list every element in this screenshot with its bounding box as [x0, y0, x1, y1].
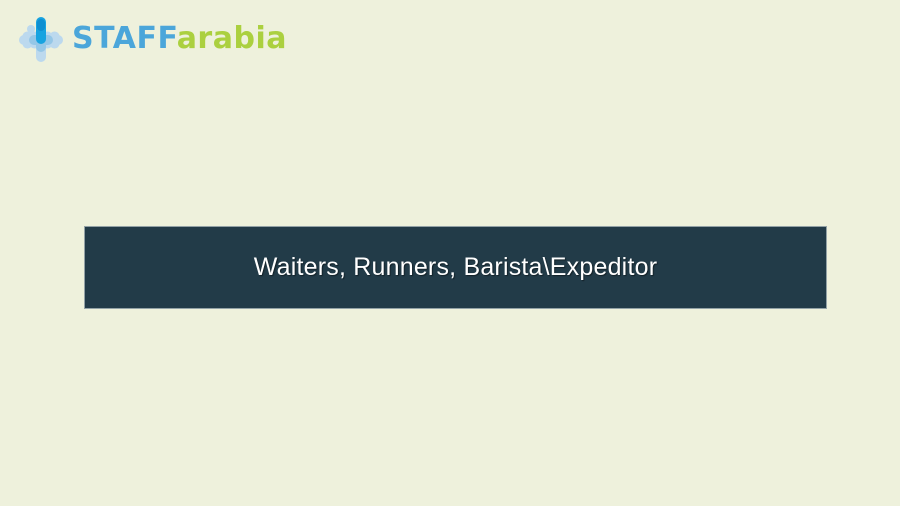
brand-logo[interactable]: STAFFarabia [18, 16, 287, 64]
brand-wordmark-staff: STAFF [72, 21, 177, 56]
snowflake-flower-icon [18, 16, 64, 64]
brand-wordmark: STAFFarabia [72, 24, 287, 56]
slide-canvas: STAFFarabia Waiters, Runners, Barista\Ex… [0, 0, 900, 506]
slide-title: Waiters, Runners, Barista\Expeditor [254, 253, 657, 282]
brand-wordmark-arabia: arabia [177, 21, 287, 56]
title-banner: Waiters, Runners, Barista\Expeditor [84, 226, 827, 309]
